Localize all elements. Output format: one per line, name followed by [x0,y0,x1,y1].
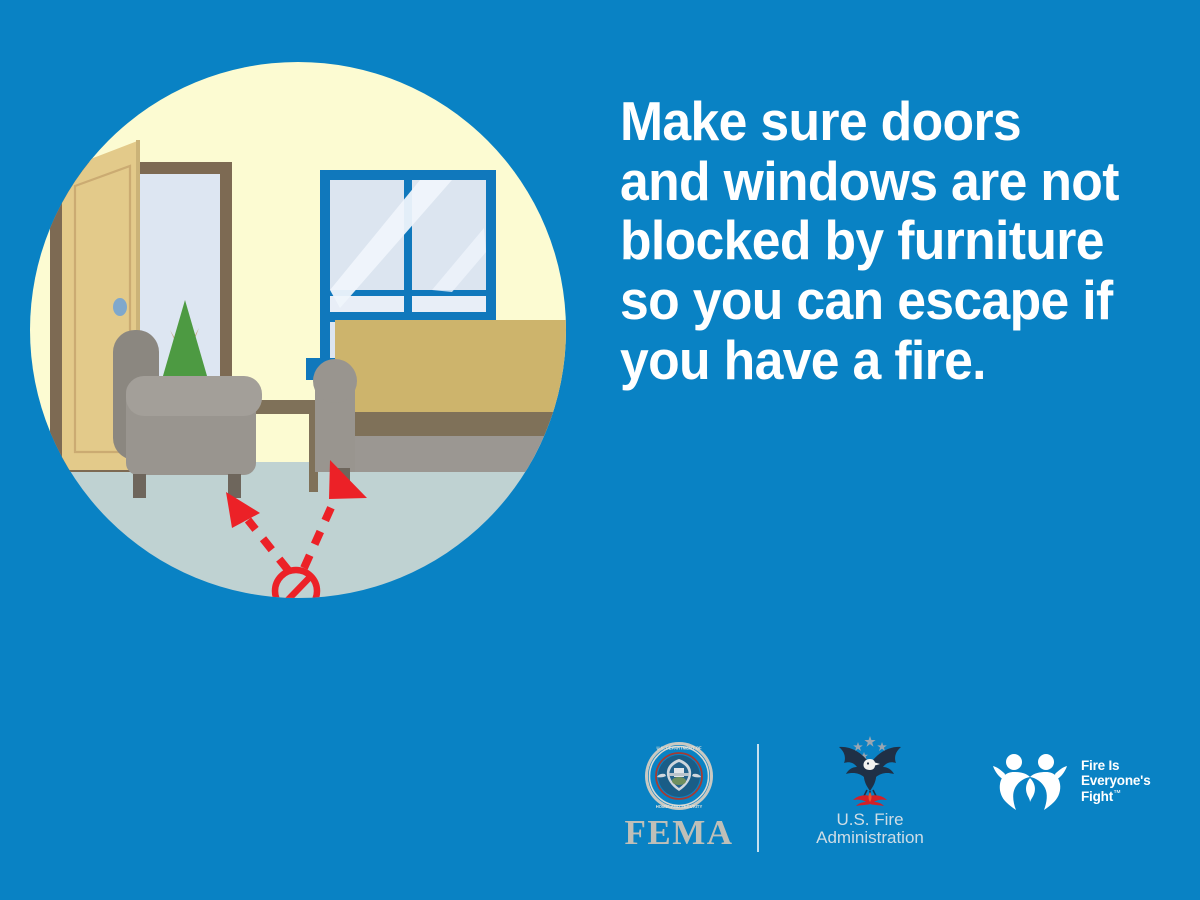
footer-logos: U.S. DEPARTMENT OF HOMELAND SECURITY FEM… [600,730,1190,865]
floor [0,462,600,660]
sofa-armrest-roll [313,359,357,403]
fief-head-left [1006,754,1022,770]
usfa-eagle-icon [828,734,912,810]
fief-figures-flame-icon [993,750,1075,812]
usfa-wordmark: U.S. Fire Administration [800,811,940,848]
sofa-back [335,320,600,415]
living-room-blocked-exits-illustration [0,0,600,660]
logo-divider [757,744,759,852]
scene-circle [0,0,600,660]
usfa-eye [867,762,869,764]
fief-trademark: ™ [1113,788,1121,797]
usfa-logo: U.S. Fire Administration [800,730,940,848]
page-headline: Make sure doors and windows are not bloc… [620,92,1132,390]
door-knob [113,298,127,316]
fief-body-right [1030,766,1067,810]
poster-canvas: Make sure doors and windows are not bloc… [0,0,1200,900]
fief-head-right [1038,754,1054,770]
usfa-flame-icon [853,792,887,806]
svg-text:HOMELAND SECURITY: HOMELAND SECURITY [656,804,703,809]
fief-wordmark: Fire Is Everyone's Fight™ [1081,758,1151,803]
dhs-seal-icon: U.S. DEPARTMENT OF HOMELAND SECURITY [643,740,715,812]
fema-wordmark: FEMA [614,815,744,850]
usfa-star-left [853,742,863,751]
armchair-armrest [126,376,262,416]
armchair-leg-left [133,474,146,498]
usfa-star-center [864,736,875,747]
fief-flame [1026,778,1035,802]
fief-logo: Fire Is Everyone's Fight™ [993,750,1183,812]
door-frame-head [50,162,232,174]
window-pane-mid-right [412,296,486,312]
sofa-band [335,412,600,437]
armchair-leg-right [228,474,241,498]
fema-logo: U.S. DEPARTMENT OF HOMELAND SECURITY FEM… [614,730,744,850]
usfa-star-right [877,742,887,751]
fief-body-left [993,766,1030,810]
sofa-base [335,436,600,472]
svg-text:U.S. DEPARTMENT OF: U.S. DEPARTMENT OF [656,746,701,751]
